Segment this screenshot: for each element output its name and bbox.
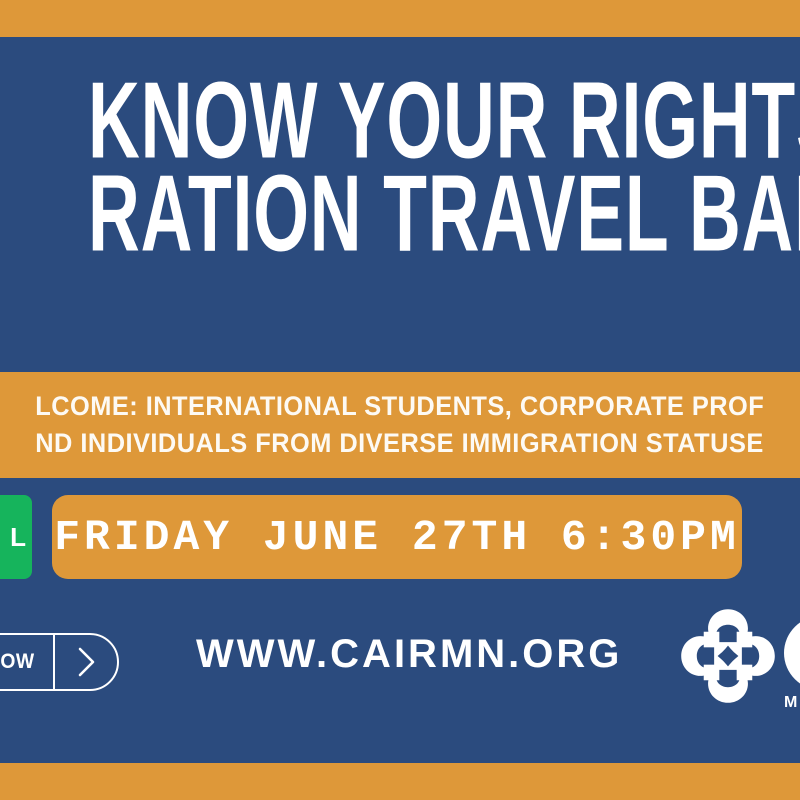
green-side-tab: L xyxy=(0,495,32,579)
partner-logo-label: M xyxy=(784,694,798,712)
register-arrow-wrap xyxy=(55,635,117,689)
headline-block: KNOW YOUR RIGHTS RATION TRAVEL BAN & xyxy=(0,78,800,259)
partner-logo: M xyxy=(782,614,800,718)
green-tab-label: L xyxy=(10,522,26,553)
footer-row: TER NOW WWW.CAIRMN.ORG xyxy=(0,600,800,730)
chevron-right-icon xyxy=(73,645,99,679)
headline-line-2: RATION TRAVEL BAN & xyxy=(88,164,712,267)
flyer-canvas: KNOW YOUR RIGHTS RATION TRAVEL BAN & LCO… xyxy=(0,0,800,800)
subtitle-band: LCOME: INTERNATIONAL STUDENTS, CORPORATE… xyxy=(0,372,800,478)
register-label-wrap: TER NOW xyxy=(0,635,55,689)
website-url[interactable]: WWW.CAIRMN.ORG xyxy=(196,632,616,677)
register-now-label: TER NOW xyxy=(0,650,35,674)
event-datetime-text: FRIDAY JUNE 27TH 6:30PM xyxy=(54,513,740,562)
subtitle-line-2: ND INDIVIDUALS FROM DIVERSE IMMIGRATION … xyxy=(36,428,765,459)
top-accent-band xyxy=(0,0,800,37)
bottom-accent-band xyxy=(0,763,800,800)
register-now-button[interactable]: TER NOW xyxy=(0,633,119,691)
event-datetime-pill: FRIDAY JUNE 27TH 6:30PM xyxy=(52,495,742,579)
cair-quatrefoil-logo xyxy=(676,604,780,708)
subtitle-line-1: LCOME: INTERNATIONAL STUDENTS, CORPORATE… xyxy=(36,391,765,422)
